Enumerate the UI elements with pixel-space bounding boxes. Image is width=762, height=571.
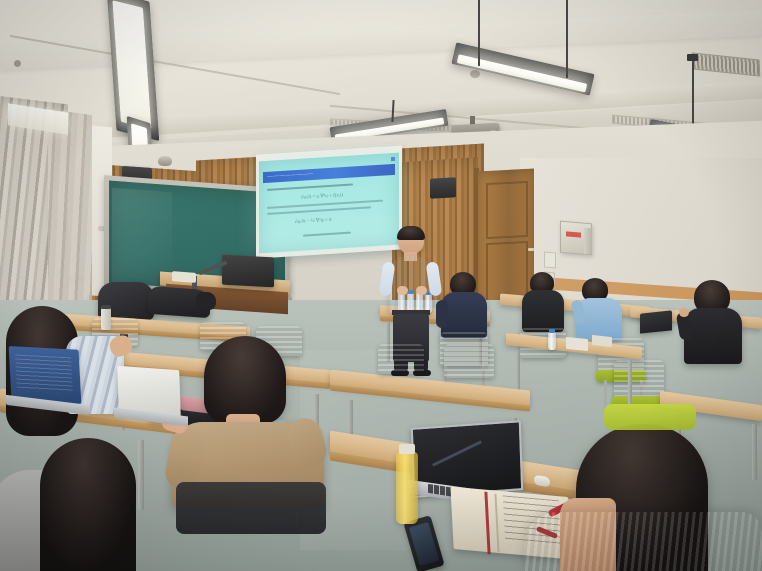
pendant-canopy xyxy=(687,54,698,61)
table-leg xyxy=(138,440,144,510)
chair-seat[interactable] xyxy=(604,404,696,430)
wall-speaker-icon xyxy=(430,177,456,198)
student-foreground-left-hair xyxy=(40,438,136,571)
presenter-hand-left xyxy=(397,286,408,295)
student-foreground-right-sweater xyxy=(524,512,762,571)
slide-equation: ∂φ/∂t − ½ ∇²φ = 0 xyxy=(295,217,331,225)
chair[interactable] xyxy=(176,482,326,534)
lectern-monitor[interactable] xyxy=(222,255,274,288)
slide-text-line xyxy=(267,206,371,214)
laptop-screen-content xyxy=(15,354,73,393)
chair[interactable] xyxy=(614,360,664,398)
door-panel xyxy=(486,181,528,239)
slide-text-line xyxy=(267,183,353,190)
table-leg xyxy=(628,360,632,408)
attendee-navy-vest-arm xyxy=(436,300,448,328)
attendee-black-jacket-body xyxy=(522,290,564,332)
presenter-hair xyxy=(397,226,425,240)
papers xyxy=(566,337,588,351)
bottle-cap xyxy=(399,444,415,454)
presenter-hand-right xyxy=(416,286,427,295)
slide-equation: ∂u/∂t = α ∇²u + f(x,t) xyxy=(301,192,343,201)
light-switch-icon[interactable] xyxy=(544,251,556,268)
student-tan-sweater-hair xyxy=(204,336,286,424)
control-panel-side xyxy=(584,228,592,255)
backpack-pocket xyxy=(196,291,216,310)
tumbler-lid xyxy=(101,305,111,309)
lectern-paper xyxy=(172,271,196,283)
pendant-rod xyxy=(478,0,480,66)
classroom-photo: ———————— ∂u/∂t = α ∇²u + f(x,t) ∂φ/∂t − … xyxy=(0,0,762,571)
papers xyxy=(592,335,612,347)
slide-text-line xyxy=(303,232,351,237)
drink-bottle xyxy=(396,452,418,524)
slide-page-marker xyxy=(391,157,395,161)
laptop[interactable] xyxy=(640,310,672,333)
door-handle-icon[interactable] xyxy=(528,248,534,251)
bottle-cap xyxy=(549,329,555,333)
table-leg xyxy=(752,424,757,480)
attendee-far-right-hand xyxy=(679,308,689,317)
cable-anchor xyxy=(14,60,21,67)
chair[interactable] xyxy=(378,344,424,374)
attendee-far-right-body xyxy=(684,308,742,364)
pendant-rod xyxy=(566,0,568,78)
ceiling-dome-icon xyxy=(158,156,172,166)
projection-screen: ———————— ∂u/∂t = α ∇²u + f(x,t) ∂φ/∂t − … xyxy=(259,153,399,254)
tumbler xyxy=(101,308,111,330)
water-bottle xyxy=(548,332,556,350)
cable-anchor xyxy=(470,70,480,78)
chair[interactable] xyxy=(444,344,494,378)
